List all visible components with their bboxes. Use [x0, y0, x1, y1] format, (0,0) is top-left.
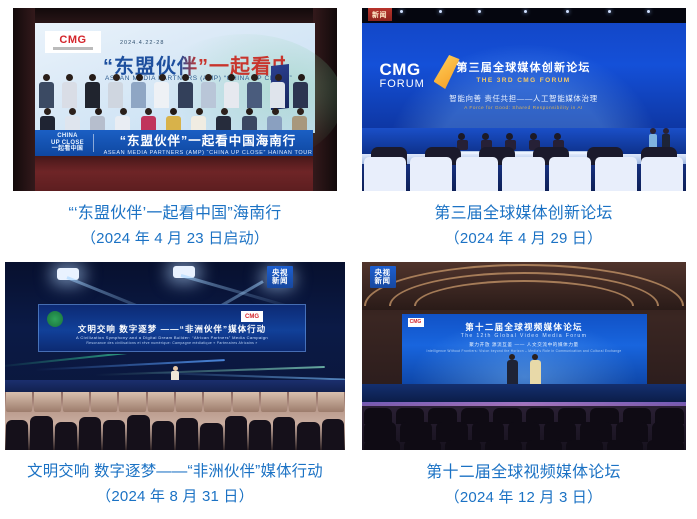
- audience-area: [362, 406, 686, 450]
- caption-line-1: “‘东盟伙伴’一起看中国”海南行: [0, 201, 350, 227]
- cmg-logo-text: CMG: [59, 34, 86, 46]
- event-banner: CHINA UP CLOSE 一起看中国 “东盟伙伴”一起看中国海南行 ASEA…: [35, 130, 313, 156]
- cctv-news-badge: 央视 新闻: [370, 266, 396, 288]
- banner-logo: CHINA UP CLOSE 一起看中国: [51, 133, 84, 154]
- screen-title-en: The 12th Global Video Media Forum: [402, 333, 647, 339]
- caption-line-1: 第三届全球媒体创新论坛: [350, 201, 697, 227]
- audience-seats: [362, 157, 686, 191]
- ceiling-lights: [362, 10, 686, 20]
- screen-title-cn: 第三届全球媒体创新论坛: [362, 59, 686, 75]
- caption-line-1: 第十二届全球视频媒体论坛: [350, 460, 697, 486]
- screen-title-en-2: Resonance des civilisations et rêve numé…: [39, 341, 305, 345]
- cctv-news-badge: 央视 新闻: [267, 266, 293, 288]
- photo-asean-media-partners-group: CMG 2024.4.22-28 “东盟伙伴”一起看中国 ASEAN MEDIA…: [13, 8, 337, 191]
- caption-line-1: 文明交响 数字逐梦——“非洲伙伴”媒体行动: [0, 460, 350, 485]
- caption-line-2: （2024 年 4 月 23 日启动）: [0, 227, 350, 251]
- caption-line-2: （2024 年 12 月 3 日）: [350, 486, 697, 510]
- photo-third-cmg-forum: 新闻 CMG FORUM 第三届全球媒体创新论坛 THE 3RD CMG FOR…: [362, 8, 686, 191]
- figure-cell-top-right: 新闻 CMG FORUM 第三届全球媒体创新论坛 THE 3RD CMG FOR…: [350, 0, 697, 252]
- auditorium: [5, 392, 345, 450]
- cctv-badge-line2: 新闻: [375, 277, 391, 285]
- news-badge-text: 新闻: [372, 10, 387, 20]
- photo-african-partners-media-campaign: CMG 文明交响 数字逐梦 ——“非洲伙伴”媒体行动 A Civilizatio…: [5, 262, 345, 450]
- caption-bottom-left: 文明交响 数字逐梦——“非洲伙伴”媒体行动 （2024 年 8 月 31 日）: [0, 450, 350, 509]
- photo-twelfth-global-video-media-forum: CMG 第十二届全球视频媒体论坛 The 12th Global Video M…: [362, 262, 686, 450]
- audience-row: [362, 440, 686, 450]
- stage-platform: [362, 384, 686, 404]
- hosts-on-stage: [507, 354, 541, 386]
- hall-left-panel: [13, 8, 35, 191]
- screen-theme-cn: 聚力开放 源流互鉴 —— 人文交流中的媒体力量: [402, 342, 647, 348]
- screen-title-en: THE 3RD CMG FORUM: [362, 77, 686, 84]
- cmg-logo-text: CMG: [245, 314, 259, 320]
- screen-title-en-1: A Civilization Symphony and a Digital Dr…: [39, 335, 305, 340]
- banner-title-cn: “东盟伙伴”一起看中国海南行: [103, 130, 313, 149]
- cmg-logo: CMG: [45, 31, 101, 53]
- caption-top-right: 第三届全球媒体创新论坛 （2024 年 4 月 29 日）: [350, 191, 697, 251]
- screen-title-cn: 文明交响 数字逐梦 ——“非洲伙伴”媒体行动: [39, 323, 305, 335]
- host-male: [507, 354, 518, 386]
- audience-silhouettes: [5, 414, 345, 450]
- news-badge: 新闻: [368, 8, 392, 21]
- figure-grid: CMG 2024.4.22-28 “东盟伙伴”一起看中国 ASEAN MEDIA…: [0, 0, 697, 519]
- banner-logo-line1: CHINA: [51, 133, 84, 140]
- figure-cell-top-left: CMG 2024.4.22-28 “东盟伙伴”一起看中国 ASEAN MEDIA…: [0, 0, 350, 252]
- audience-row: [362, 422, 686, 442]
- cmg-logo: CMG: [241, 311, 263, 322]
- cctv-badge-line2: 新闻: [272, 277, 288, 285]
- audience-area: [362, 164, 686, 191]
- caption-line-2: （2024 年 4 月 29 日）: [350, 227, 697, 251]
- stage-led-screen: CMG 文明交响 数字逐梦 ——“非洲伙伴”媒体行动 A Civilizatio…: [38, 304, 306, 352]
- banner-logo-line3: 一起看中国: [51, 146, 84, 153]
- host-female: [530, 354, 541, 386]
- banner-text: “东盟伙伴”一起看中国海南行 ASEAN MEDIA PARTNERS (AMP…: [103, 130, 313, 156]
- floor-shadow: [35, 156, 313, 172]
- figure-cell-bottom-left: CMG 文明交响 数字逐梦 ——“非洲伙伴”媒体行动 A Civilizatio…: [0, 252, 350, 519]
- screen-theme-cn: 智能向善 责任共担——人工智能媒体治理: [362, 93, 686, 104]
- caption-top-left: “‘东盟伙伴’一起看中国”海南行 （2024 年 4 月 23 日启动）: [0, 191, 350, 251]
- screen-title-cn: 第十二届全球视频媒体论坛: [402, 321, 647, 333]
- cmg-logo-underline: [53, 47, 93, 50]
- balcony-boxes: [5, 392, 345, 412]
- screen-theme-en: Intelligence Without Frontiers: Vision b…: [402, 349, 647, 353]
- caption-line-2: （2024 年 8 月 31 日）: [0, 485, 350, 509]
- hall-floor: [35, 156, 313, 191]
- stage-led-screen: CMG FORUM 第三届全球媒体创新论坛 THE 3RD CMG FORUM …: [362, 23, 686, 128]
- screen-text-block: 第三届全球媒体创新论坛 THE 3RD CMG FORUM 智能向善 责任共担—…: [362, 59, 686, 111]
- figure-cell-bottom-right: CMG 第十二届全球视频媒体论坛 The 12th Global Video M…: [350, 252, 697, 519]
- backdrop-date: 2024.4.22-28: [120, 40, 164, 46]
- banner-divider: [93, 134, 94, 152]
- screen-theme-en: A Force for Good: Shared Responsibility …: [362, 106, 686, 111]
- caption-bottom-right: 第十二届全球视频媒体论坛 （2024 年 12 月 3 日）: [350, 450, 697, 510]
